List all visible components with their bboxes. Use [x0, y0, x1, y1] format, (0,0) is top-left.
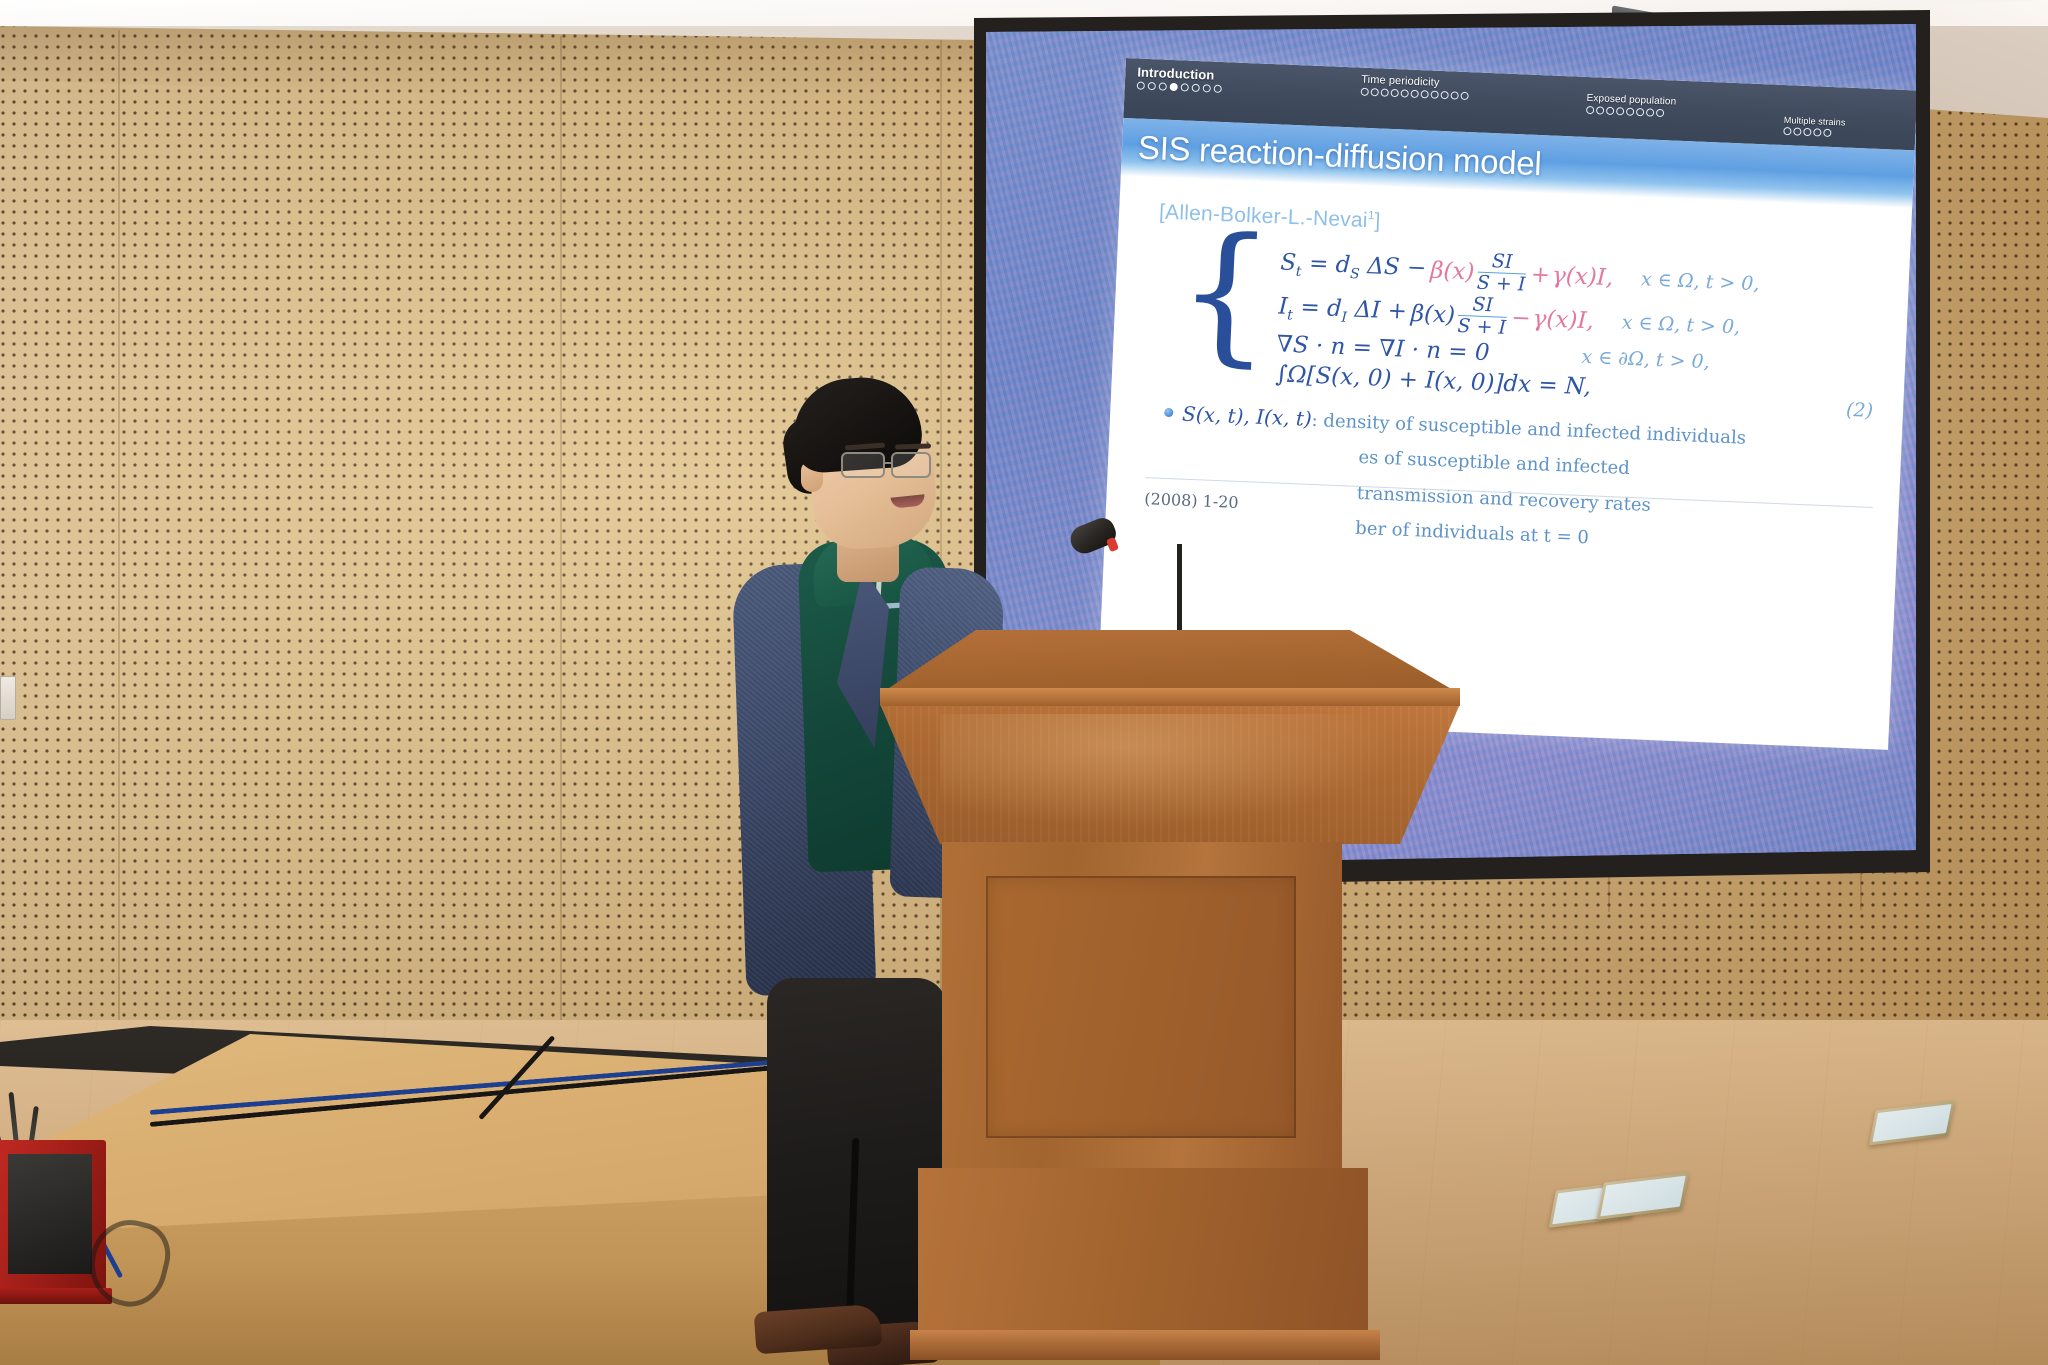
slide-title: SIS reaction-diffusion model: [1121, 128, 1542, 183]
eq-fraction: SI S + I: [1457, 295, 1507, 339]
left-brace: {: [1174, 231, 1276, 387]
nav-dot[interactable]: [1192, 84, 1200, 92]
nav-dot[interactable]: [1596, 106, 1604, 114]
equation-system: { St = dS ΔS − β(x) SI S + I: [1152, 238, 1884, 411]
nav-dot[interactable]: [1170, 83, 1178, 91]
wall-seam: [118, 30, 120, 1035]
nav-dot[interactable]: [1626, 108, 1634, 116]
equation-lhs: St = dS ΔS −: [1280, 250, 1427, 286]
nav-dot[interactable]: [1606, 107, 1614, 115]
nav-dot[interactable]: [1783, 127, 1791, 135]
eq-lhs-subscript: t: [1295, 264, 1301, 280]
bullet-content: es of susceptible and infected: [1358, 447, 1630, 481]
equation-lhs: It = dI ΔI +: [1278, 293, 1408, 328]
eq-fraction: SI S + I: [1476, 252, 1526, 296]
nav-dot[interactable]: [1159, 82, 1167, 90]
eq-operator: = d: [1309, 251, 1351, 279]
fraction-denominator: S + I: [1476, 272, 1525, 296]
nav-section-multiple-strains[interactable]: Multiple strains: [1783, 115, 1845, 138]
nav-dot[interactable]: [1371, 88, 1379, 96]
nav-section-introduction[interactable]: Introduction: [1137, 64, 1223, 92]
nav-dot[interactable]: [1586, 106, 1594, 114]
glasses-lens-right: [891, 452, 931, 478]
nav-dot[interactable]: [1803, 128, 1811, 136]
cart-equipment-rack: [8, 1154, 92, 1274]
fraction-numerator: SI: [1491, 252, 1512, 273]
eq-beta-coefficient: β(x): [1410, 301, 1455, 329]
nav-dot[interactable]: [1793, 127, 1801, 135]
slide-footnote: (2008) 1-20: [1144, 489, 1239, 512]
nav-dot[interactable]: [1646, 108, 1654, 116]
glasses-lens-left: [841, 452, 885, 478]
eq-coef-subscript: I: [1341, 310, 1347, 326]
bullet-text: : density of susceptible and infected in…: [1311, 410, 1746, 449]
nav-dot[interactable]: [1381, 88, 1389, 96]
eq-condition: x ∈ Ω, t > 0,: [1621, 311, 1740, 338]
nav-dot[interactable]: [1430, 91, 1438, 99]
citation-bracket: ]: [1374, 209, 1381, 232]
equation-number: (2): [1846, 399, 1874, 422]
nav-section-time-periodicity[interactable]: Time periodicity: [1361, 74, 1470, 100]
fraction-denominator: S + I: [1457, 315, 1506, 339]
nav-dot[interactable]: [1813, 128, 1821, 136]
nav-dot[interactable]: [1656, 109, 1664, 117]
eq-coef-subscript: S: [1350, 266, 1360, 282]
bullet-math: S(x, t), I(x, t): [1182, 401, 1313, 430]
nav-dot[interactable]: [1421, 90, 1429, 98]
eq-rest: ΔI +: [1354, 297, 1407, 325]
bullet-text: ber of individuals at t = 0: [1355, 518, 1589, 549]
nav-dot[interactable]: [1137, 81, 1145, 89]
nav-dot[interactable]: [1450, 91, 1458, 99]
nav-section-exposed-population[interactable]: Exposed population: [1586, 93, 1677, 118]
nav-progress-dots: [1586, 106, 1676, 118]
podium-base-edge: [910, 1330, 1380, 1360]
slide-body: [Allen-Bolker-L.-Nevai1] { St = dS ΔS − …: [1105, 176, 1912, 563]
wooden-podium: [880, 630, 1460, 1365]
podium-recessed-panel: [986, 876, 1296, 1138]
nav-progress-dots: [1361, 88, 1469, 100]
eq-condition: x ∈ ∂Ω, t > 0,: [1581, 346, 1710, 373]
eq-tail-sign: +: [1530, 262, 1550, 289]
eq-condition: x ∈ Ω, t > 0,: [1641, 268, 1760, 295]
podium-desktop-edge: [880, 688, 1460, 706]
cart-base: [0, 1288, 112, 1304]
wall-seam: [560, 36, 562, 1036]
nav-section-label: Introduction: [1137, 64, 1223, 82]
nav-dot[interactable]: [1460, 92, 1468, 100]
nav-dot[interactable]: [1214, 85, 1222, 93]
nav-dot[interactable]: [1636, 108, 1644, 116]
nav-dot[interactable]: [1148, 82, 1156, 90]
nav-dot[interactable]: [1203, 84, 1211, 92]
wall-outlet: [0, 676, 16, 720]
nav-section-label: Exposed population: [1586, 93, 1676, 108]
eq-gamma-term: γ(x)I,: [1532, 306, 1594, 334]
eq-rest: ΔS −: [1367, 253, 1427, 281]
lecture-hall-photo: Introduction Time periodicity Exposed po…: [0, 0, 2048, 1365]
nav-progress-dots: [1137, 81, 1222, 92]
av-equipment-cart: [0, 1092, 124, 1322]
fraction-numerator: SI: [1472, 295, 1493, 316]
nav-dot[interactable]: [1181, 83, 1189, 91]
nav-section-label: Multiple strains: [1784, 115, 1846, 128]
podium-front-highlight: [940, 714, 1400, 826]
eq-beta-coefficient: β(x): [1430, 258, 1475, 286]
eq-lhs-symbol: S: [1280, 250, 1297, 277]
nav-dot[interactable]: [1361, 88, 1369, 96]
bullet-dot-icon: [1164, 408, 1173, 417]
eq-operator: = d: [1300, 294, 1342, 322]
eq-lhs-subscript: t: [1287, 307, 1293, 323]
eq-gamma-term: γ(x)I,: [1552, 263, 1614, 291]
nav-dot[interactable]: [1391, 89, 1399, 97]
nav-dot[interactable]: [1401, 89, 1409, 97]
nav-dot[interactable]: [1440, 91, 1448, 99]
shoe-front: [754, 1304, 883, 1355]
glasses-icon: [841, 452, 945, 478]
equation-lines: St = dS ΔS − β(x) SI S + I + γ(x)I,: [1275, 244, 1883, 412]
eq-tail-sign: −: [1511, 305, 1531, 332]
nav-progress-dots: [1783, 127, 1845, 138]
nav-dot[interactable]: [1823, 129, 1831, 137]
bullet-text: es of susceptible and infected: [1358, 447, 1630, 479]
nav-dot[interactable]: [1411, 90, 1419, 98]
nav-dot[interactable]: [1616, 107, 1624, 115]
bullet-content: ber of individuals at t = 0: [1355, 518, 1590, 550]
